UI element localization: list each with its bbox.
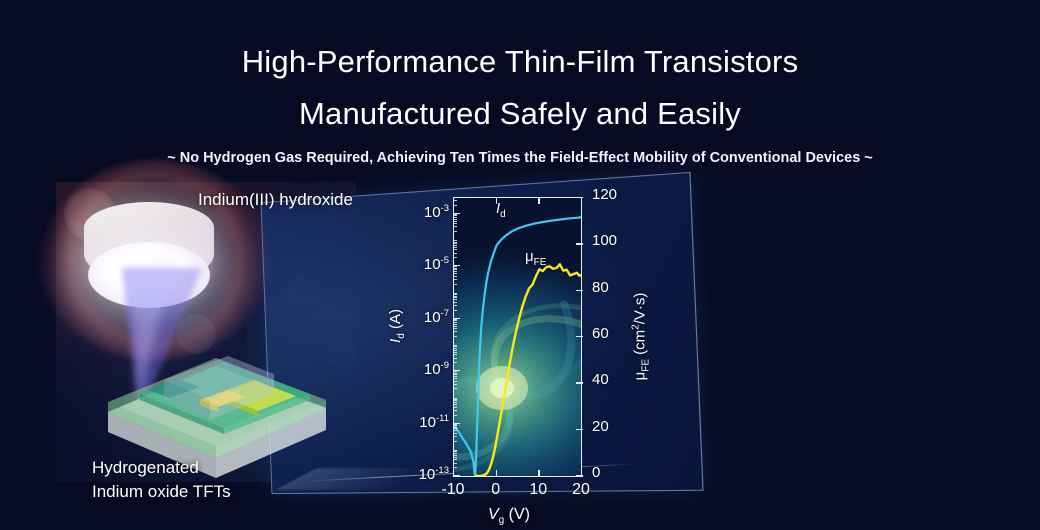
device-label-line-2: Indium oxide TFTs (92, 482, 231, 502)
source-material-label: Indium(III) hydroxide (198, 190, 353, 210)
y-left-minor-tick (453, 345, 457, 346)
y-left-minor-tick (453, 457, 457, 458)
annotation-id: Id (496, 200, 506, 220)
y-left-minor-tick (453, 399, 457, 400)
y-left-minor-tick (453, 223, 457, 224)
x-axis-title: Vg (V) (488, 506, 530, 526)
x-major-tick (453, 470, 454, 477)
y-left-minor-tick (453, 358, 457, 359)
page-title-line-2: Manufactured Safely and Easily (0, 98, 1040, 129)
chart-curves (454, 198, 582, 476)
y-left-minor-tick (453, 376, 457, 377)
page-title-line-1: High-Performance Thin-Film Transistors (0, 46, 1040, 77)
y-left-minor-tick (453, 381, 457, 382)
y-left-minor-tick (453, 384, 457, 385)
y-left-minor-tick (453, 352, 457, 353)
y-left-minor-tick (453, 226, 457, 227)
y-right-tick-label: 100 (592, 232, 636, 249)
y-left-minor-tick (453, 273, 457, 274)
y-left-minor-tick (453, 257, 457, 258)
device-label-line-1: Hydrogenated (92, 458, 199, 478)
x-major-tick (496, 470, 497, 477)
y-left-minor-tick (453, 425, 457, 426)
y-left-minor-tick (453, 284, 457, 285)
y-left-minor-tick (453, 362, 457, 363)
y-left-minor-tick (453, 219, 457, 220)
y-left-minor-tick (453, 322, 457, 323)
y-right-major-tick (576, 336, 583, 337)
y-left-minor-tick (453, 266, 457, 267)
y-left-minor-tick (453, 296, 457, 297)
x-tick-label: 20 (557, 481, 605, 499)
plot-area (454, 198, 582, 476)
y-left-minor-tick (453, 326, 457, 327)
y-left-minor-tick (453, 200, 457, 201)
y-left-minor-tick (453, 247, 457, 248)
y-left-minor-tick (453, 271, 457, 272)
y-left-minor-tick (453, 253, 457, 254)
x-top-tick (581, 197, 582, 204)
y-right-tick-label: 0 (592, 464, 636, 481)
y-left-minor-tick (453, 407, 457, 408)
y-right-tick-label: 120 (592, 186, 636, 203)
y-left-minor-tick (453, 240, 457, 241)
transfer-characteristics-chart: 10-310-510-710-910-1110-13 0204060801001… (392, 186, 660, 530)
y-right-major-tick (576, 429, 583, 430)
x-tick-label: 10 (514, 481, 562, 499)
y-left-minor-tick (453, 215, 457, 216)
y-left-minor-tick (453, 217, 457, 218)
y-left-minor-tick (453, 402, 457, 403)
y-left-minor-tick (453, 441, 457, 442)
y-left-tick-label: 10-5 (397, 255, 449, 273)
y-left-minor-tick (453, 331, 457, 332)
y-left-minor-tick (453, 320, 457, 321)
y-left-minor-tick (453, 354, 457, 355)
y-left-minor-tick (453, 348, 457, 349)
y-left-minor-tick (453, 299, 457, 300)
y-left-minor-tick (453, 436, 457, 437)
y-left-minor-tick (453, 336, 457, 337)
y-left-minor-tick (453, 463, 457, 464)
axis-spine-left (453, 197, 454, 477)
annotation-mufe: μFE (525, 248, 546, 268)
y-left-minor-tick (453, 455, 457, 456)
y-left-minor-tick (453, 428, 457, 429)
y-left-minor-tick (453, 205, 457, 206)
y-left-minor-tick (453, 276, 457, 277)
x-major-tick (581, 470, 582, 477)
y-left-minor-tick (453, 249, 457, 250)
y-left-minor-tick (453, 231, 457, 232)
y-left-minor-tick (453, 467, 457, 468)
y-left-minor-tick (453, 297, 457, 298)
axis-spine-top (453, 197, 583, 198)
y-left-minor-tick (453, 373, 457, 374)
y-right-tick-label: 40 (592, 371, 636, 388)
y-right-major-tick (576, 290, 583, 291)
y-left-minor-tick (453, 451, 457, 452)
y-left-minor-tick (453, 350, 457, 351)
series-id-line (454, 217, 582, 475)
y-left-minor-tick (453, 294, 457, 295)
series-mufe-line (475, 264, 582, 476)
y-left-minor-tick (453, 324, 457, 325)
y-left-minor-tick (453, 398, 457, 399)
y-left-minor-tick (453, 433, 457, 434)
y-left-minor-tick (453, 415, 457, 416)
y-left-minor-tick (453, 388, 457, 389)
x-tick-label: 0 (472, 481, 520, 499)
y-left-tick-label: 10-3 (397, 203, 449, 221)
x-top-tick (538, 197, 539, 204)
y-left-minor-tick (453, 242, 457, 243)
y-left-minor-tick (453, 400, 457, 401)
y-left-minor-tick (453, 346, 457, 347)
y-left-minor-tick (453, 453, 457, 454)
y-right-major-tick (576, 382, 583, 383)
y-left-minor-tick (453, 310, 457, 311)
y-left-minor-tick (453, 427, 457, 428)
y-left-tick-label: 10-11 (397, 413, 449, 431)
x-major-tick (538, 470, 539, 477)
y-left-minor-tick (453, 328, 457, 329)
y-right-major-tick (576, 243, 583, 244)
y-left-minor-tick (453, 269, 457, 270)
y-left-minor-tick (453, 293, 457, 294)
y-left-minor-tick (453, 371, 457, 372)
y-left-minor-tick (453, 302, 457, 303)
axis-spine-bottom (453, 476, 583, 477)
y-right-tick-label: 60 (592, 325, 636, 342)
y-axis-left-title: Id (A) (387, 309, 407, 343)
y-left-minor-tick (453, 279, 457, 280)
y-left-minor-tick (453, 450, 457, 451)
y-left-minor-tick (453, 374, 457, 375)
y-left-minor-tick (453, 221, 457, 222)
y-left-minor-tick (453, 319, 457, 320)
y-left-minor-tick (453, 268, 457, 269)
y-left-minor-tick (453, 305, 457, 306)
x-tick-label: -10 (429, 481, 477, 499)
figure-canvas: High-Performance Thin-Film Transistors M… (0, 0, 1040, 530)
y-left-tick-label: 10-9 (397, 360, 449, 378)
y-axis-right-title: μFE (cm2/V·s) (630, 293, 651, 381)
y-left-minor-tick (453, 410, 457, 411)
y-left-minor-tick (453, 243, 457, 244)
y-left-minor-tick (453, 430, 457, 431)
y-left-minor-tick (453, 378, 457, 379)
y-left-minor-tick (453, 245, 457, 246)
y-right-tick-label: 80 (592, 279, 636, 296)
y-left-minor-tick (453, 424, 457, 425)
y-left-minor-tick (453, 404, 457, 405)
y-left-minor-tick (453, 214, 457, 215)
y-left-minor-tick (453, 459, 457, 460)
y-right-tick-label: 20 (592, 418, 636, 435)
